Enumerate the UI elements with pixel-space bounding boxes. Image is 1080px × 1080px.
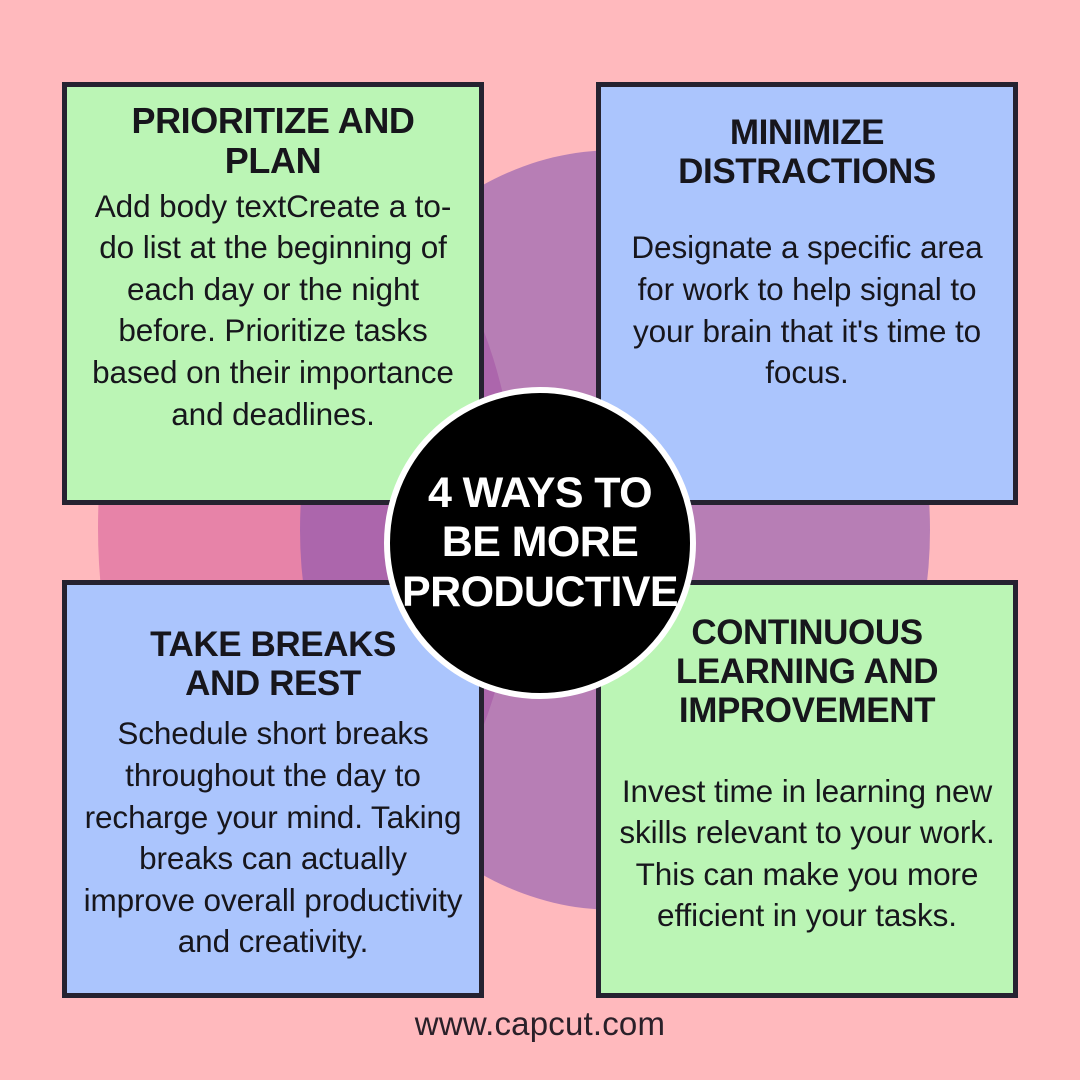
card-title: TAKE BREAKS AND REST <box>83 625 463 703</box>
card-title: CONTINUOUS LEARNING AND IMPROVEMENT <box>617 613 997 731</box>
card-body: Schedule short breaks throughout the day… <box>83 713 463 962</box>
center-badge: 4 WAYS TO BE MORE PRODUCTIVE <box>384 387 696 699</box>
footer-url: www.capcut.com <box>0 1005 1080 1043</box>
badge-title: 4 WAYS TO BE MORE PRODUCTIVE <box>390 469 690 616</box>
card-body: Designate a specific area for work to he… <box>617 227 997 393</box>
infographic-poster: PRIORITIZE AND PLAN Add body textCreate … <box>0 0 1080 1080</box>
card-body: Add body textCreate a to-do list at the … <box>83 186 463 435</box>
card-body: Invest time in learning new skills relev… <box>617 771 997 937</box>
card-title: PRIORITIZE AND PLAN <box>83 101 463 182</box>
card-title: MINIMIZE DISTRACTIONS <box>617 113 997 191</box>
